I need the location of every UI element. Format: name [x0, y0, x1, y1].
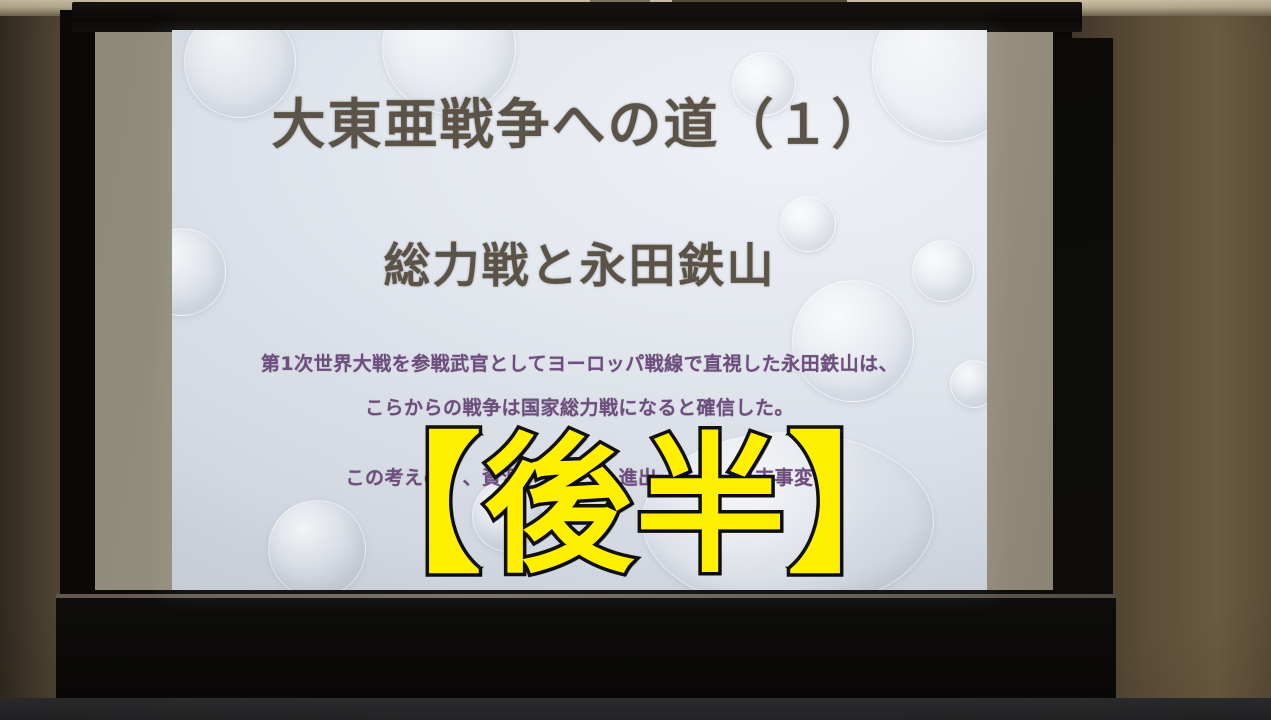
slide-body-line-1: 第1次世界大戦を参戦武官としてヨーロッパ戦線で直視した永田鉄山は、 [202, 342, 957, 386]
floor-strip [0, 698, 1271, 720]
projector-screen-lower-dark-area [56, 594, 1116, 698]
slide-title: 大東亜戦争への道（１） [172, 80, 987, 159]
slide-subtitle: 総力戦と永田鉄山 [172, 227, 987, 296]
video-frame: 大東亜戦争への道（１） 総力戦と永田鉄山 第1次世界大戦を参戦武官としてヨーロッ… [0, 0, 1271, 720]
overlay-caption: 【後半】 [0, 432, 1271, 582]
projector-screen-housing [72, 2, 1082, 32]
